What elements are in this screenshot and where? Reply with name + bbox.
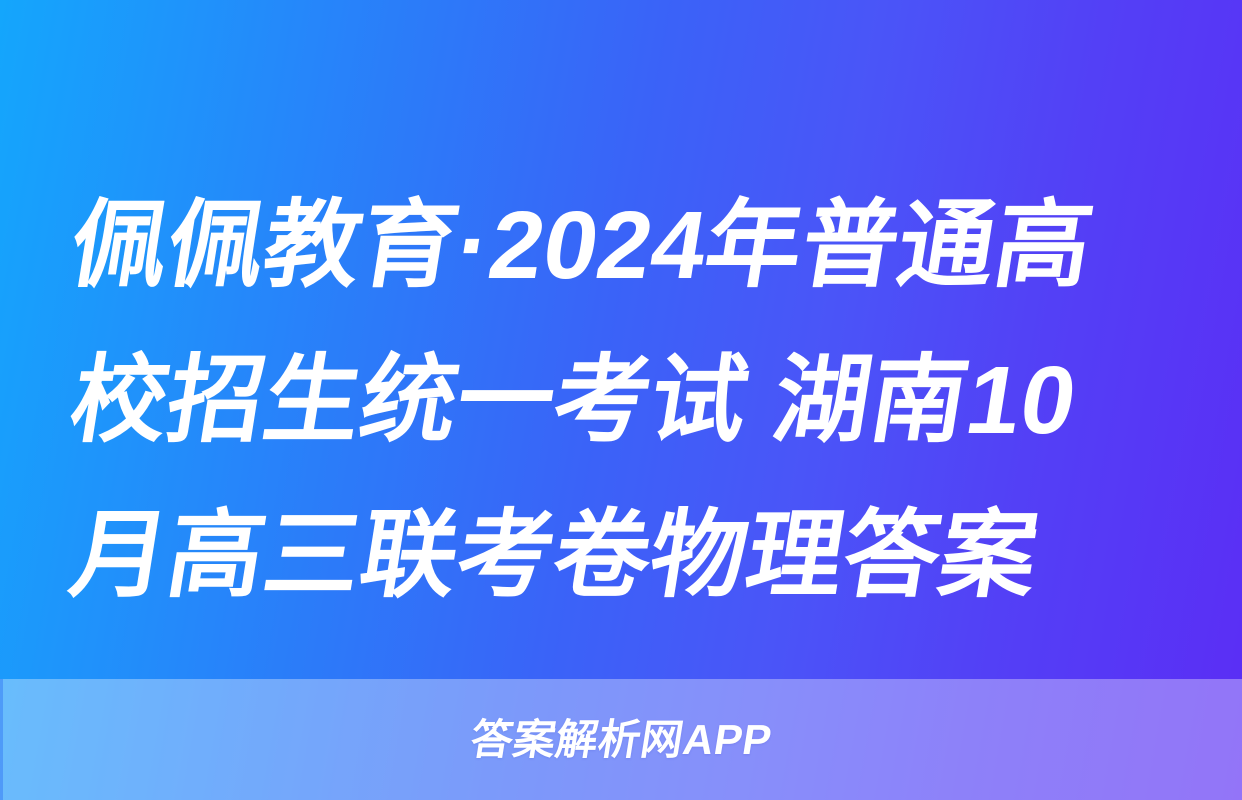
page-title: 佩佩教育·2024年普通高 校招生统一考试 湖南10 月高三联考卷物理答案	[0, 168, 1242, 633]
watermark-band: 答案解析网APP	[0, 679, 1242, 800]
page-title-line-2: 校招生统一考试 湖南10	[60, 323, 1183, 478]
watermark-label: 答案解析网APP	[467, 719, 774, 761]
page-title-line-3: 月高三联考卷物理答案	[60, 478, 1183, 633]
page-title-line-1: 佩佩教育·2024年普通高	[60, 168, 1183, 323]
poster-canvas: 佩佩教育·2024年普通高 校招生统一考试 湖南10 月高三联考卷物理答案 答案…	[0, 0, 1242, 800]
